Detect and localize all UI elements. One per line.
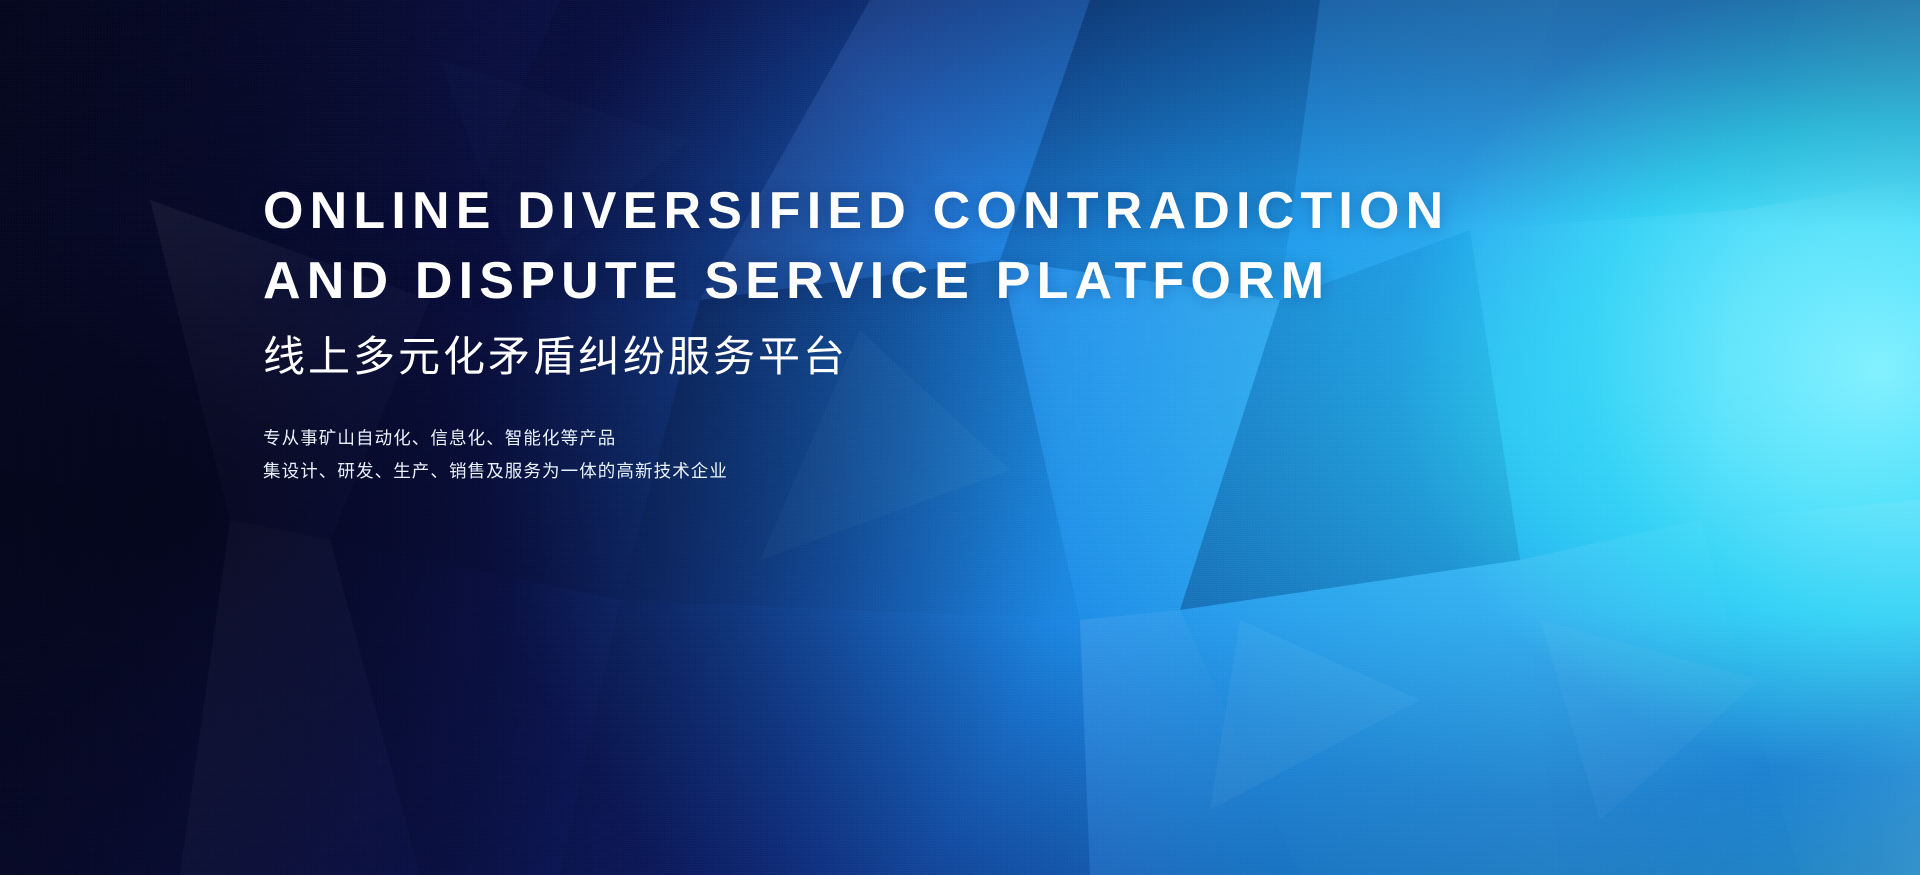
banner-description-line-1: 专从事矿山自动化、信息化、智能化等产品	[263, 422, 1463, 455]
banner-description-line-2: 集设计、研发、生产、销售及服务为一体的高新技术企业	[263, 455, 1463, 488]
banner-description: 专从事矿山自动化、信息化、智能化等产品 集设计、研发、生产、销售及服务为一体的高…	[263, 422, 1463, 488]
banner-headline-english: ONLINE DIVERSIFIED CONTRADICTION AND DIS…	[263, 176, 1463, 316]
hero-banner: ONLINE DIVERSIFIED CONTRADICTION AND DIS…	[0, 0, 1920, 875]
banner-content: ONLINE DIVERSIFIED CONTRADICTION AND DIS…	[263, 176, 1463, 488]
banner-subtitle-chinese: 线上多元化矛盾纠纷服务平台	[263, 328, 1463, 386]
